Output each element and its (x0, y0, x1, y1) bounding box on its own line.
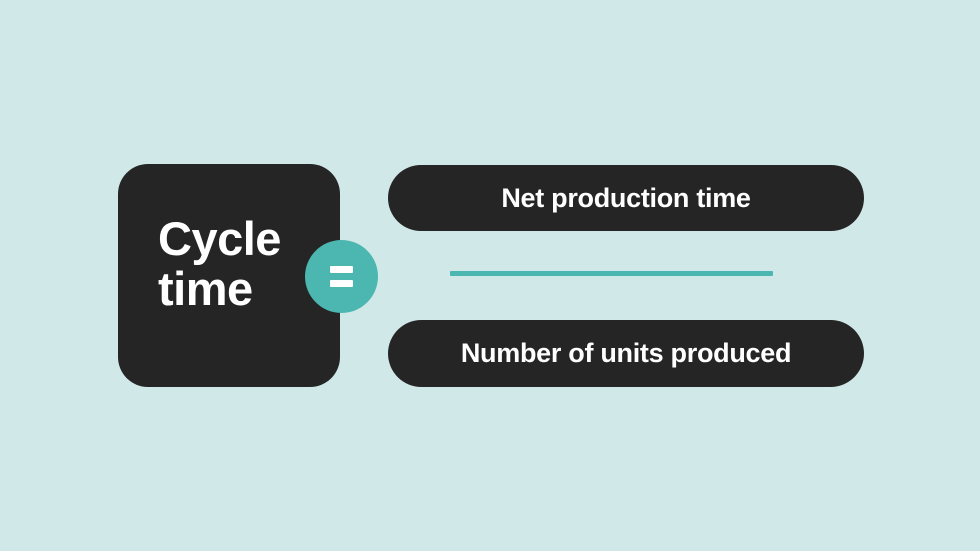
formula-canvas: Cycle time Net production time Number of… (0, 0, 980, 551)
denominator-pill: Number of units produced (388, 320, 864, 387)
numerator-label: Net production time (501, 185, 750, 212)
cycle-time-label: Cycle time (158, 214, 328, 315)
fraction-bar (450, 271, 773, 276)
equals-bar-top (330, 266, 353, 273)
equals-badge (305, 240, 378, 313)
equals-icon (330, 266, 353, 287)
fraction-group: Net production time Number of units prod… (388, 165, 864, 387)
denominator-label: Number of units produced (461, 340, 791, 367)
equals-bar-bottom (330, 280, 353, 287)
numerator-pill: Net production time (388, 165, 864, 231)
